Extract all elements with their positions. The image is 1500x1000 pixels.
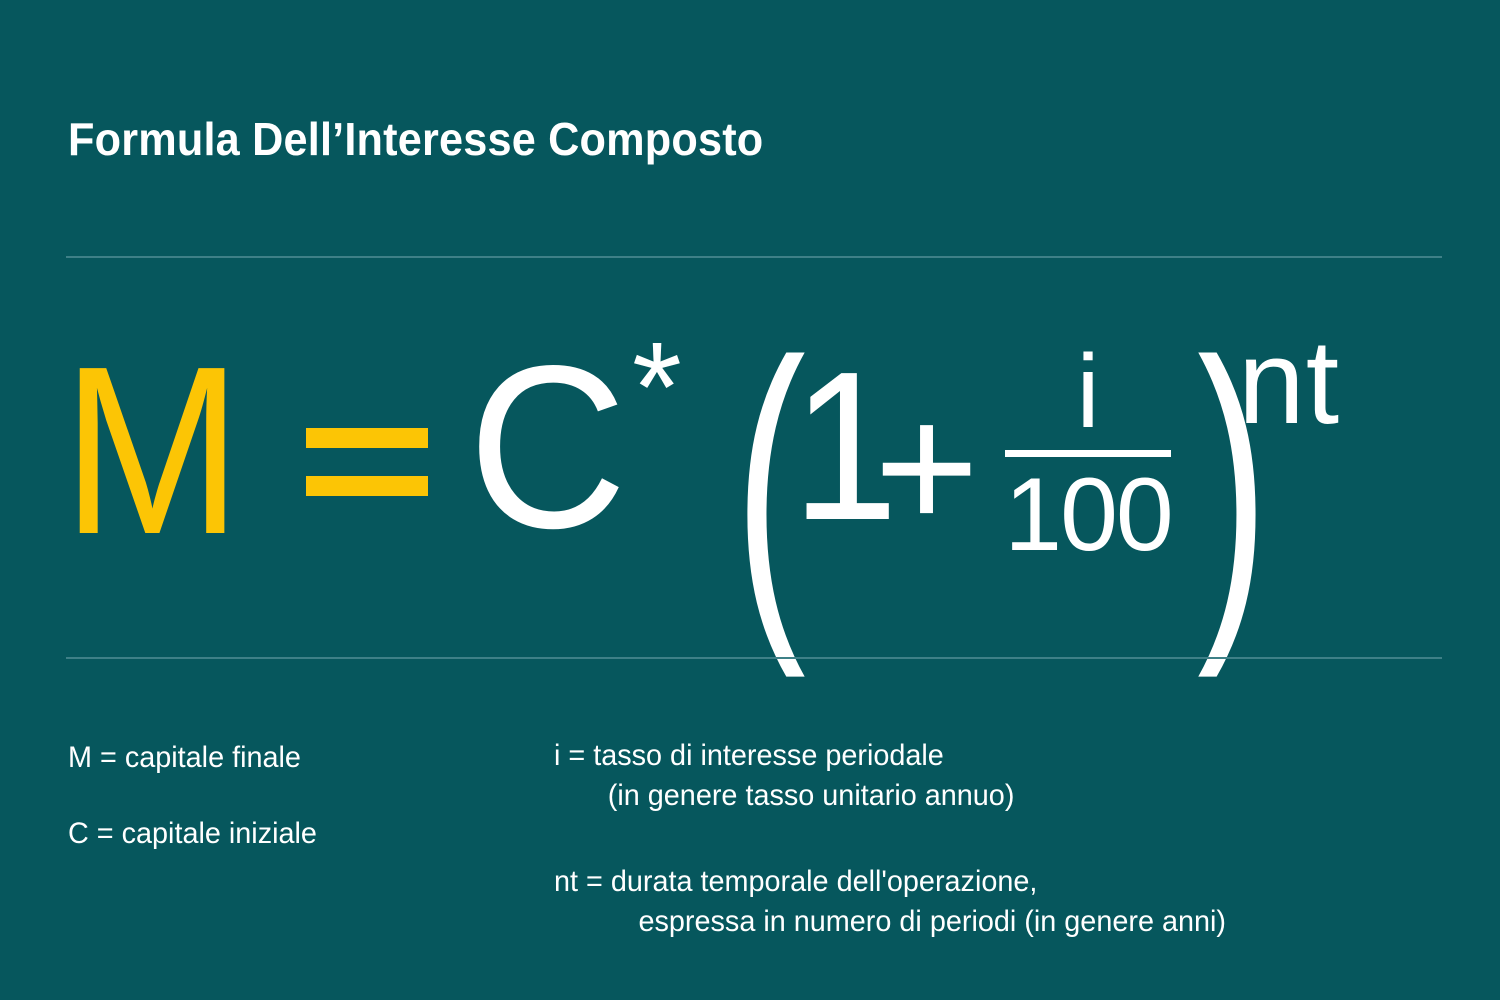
formula-exponent-nt: nt bbox=[1238, 322, 1340, 442]
formula-equals-sign bbox=[306, 428, 428, 520]
legend-block: M = capitale finale C = capitale inizial… bbox=[0, 724, 1500, 964]
fraction-numerator: i bbox=[1000, 340, 1176, 448]
legend-item-i-line2: (in genere tasso unitario annuo) bbox=[554, 776, 1014, 816]
divider-top bbox=[66, 256, 1442, 258]
fraction-bar bbox=[1005, 450, 1171, 457]
legend-item-i-line1: i = tasso di interesse periodale bbox=[554, 736, 1014, 776]
legend-item-c-line1: C = capitale iniziale bbox=[68, 814, 317, 854]
formula-block: M C * ( 1 + i 100 ) nt bbox=[62, 318, 1462, 588]
page-title: Formula Dell’Interesse Composto bbox=[68, 112, 763, 166]
legend-item-m: M = capitale finale bbox=[68, 738, 301, 778]
legend-item-nt: nt = durata temporale dell'operazione, e… bbox=[554, 862, 1226, 942]
divider-bottom bbox=[66, 657, 1442, 659]
legend-item-i: i = tasso di interesse periodale (in gen… bbox=[554, 736, 1014, 816]
equals-bar-upper bbox=[306, 428, 428, 448]
formula-symbol-c: C bbox=[468, 332, 627, 564]
fraction-denominator: 100 bbox=[1000, 463, 1176, 567]
formula-plus-sign: + bbox=[874, 378, 979, 558]
poster-canvas: Formula Dell’Interesse Composto M C * ( … bbox=[0, 0, 1500, 1000]
formula-symbol-m: M bbox=[62, 330, 242, 570]
formula-fraction: i 100 bbox=[1000, 340, 1176, 567]
legend-item-nt-line2: espressa in numero di periodi (in genere… bbox=[554, 902, 1226, 942]
legend-item-c: C = capitale iniziale bbox=[68, 814, 317, 854]
legend-item-m-line1: M = capitale finale bbox=[68, 738, 301, 778]
legend-item-nt-line1: nt = durata temporale dell'operazione, bbox=[554, 862, 1226, 902]
formula-multiply-asterisk: * bbox=[632, 324, 682, 452]
equals-bar-lower bbox=[306, 476, 428, 496]
